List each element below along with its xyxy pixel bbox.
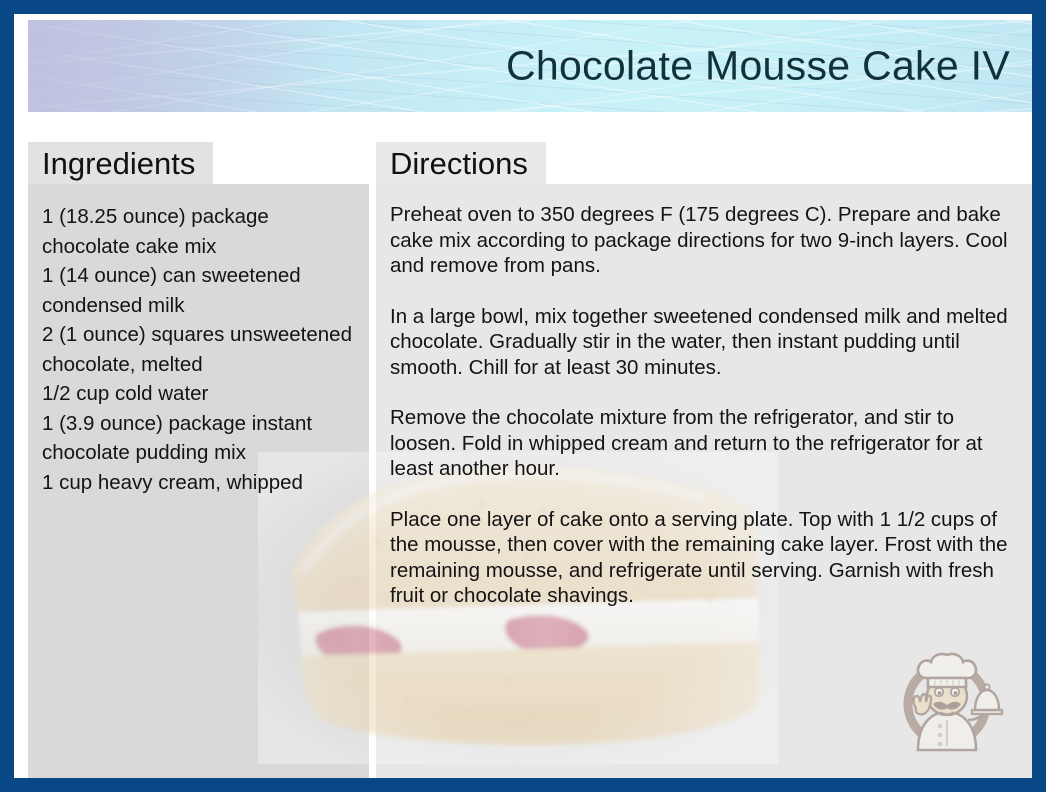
direction-step: In a large bowl, mix together sweetened … — [390, 304, 1018, 381]
direction-step: Place one layer of cake onto a serving p… — [390, 507, 1018, 609]
list-item: 2 (1 ounce) squares unsweetened chocolat… — [42, 320, 353, 379]
header-banner: Chocolate Mousse Cake IV — [28, 20, 1032, 112]
direction-step: Remove the chocolate mixture from the re… — [390, 405, 1018, 482]
list-item: 1 cup heavy cream, whipped — [42, 468, 353, 498]
ingredients-tab: Ingredients — [28, 142, 213, 184]
ingredients-heading: Ingredients — [42, 148, 195, 179]
list-item: 1/2 cup cold water — [42, 379, 353, 409]
list-item: 1 (3.9 ounce) package instant chocolate … — [42, 409, 353, 468]
ingredients-panel: 1 (18.25 ounce) package chocolate cake m… — [28, 184, 369, 784]
banner-left-fade — [28, 20, 329, 112]
directions-tab: Directions — [376, 142, 546, 184]
list-item: 1 (14 ounce) can sweetened condensed mil… — [42, 261, 353, 320]
page-title: Chocolate Mousse Cake IV — [506, 43, 1010, 90]
ingredients-list: 1 (18.25 ounce) package chocolate cake m… — [42, 202, 353, 497]
directions-panel: Preheat oven to 350 degrees F (175 degre… — [376, 184, 1034, 784]
direction-step: Preheat oven to 350 degrees F (175 degre… — [390, 202, 1018, 279]
directions-heading: Directions — [390, 148, 528, 179]
list-item: 1 (18.25 ounce) package chocolate cake m… — [42, 202, 353, 261]
recipe-card: Chocolate Mousse Cake IV Ingredients 1 (… — [0, 0, 1046, 792]
